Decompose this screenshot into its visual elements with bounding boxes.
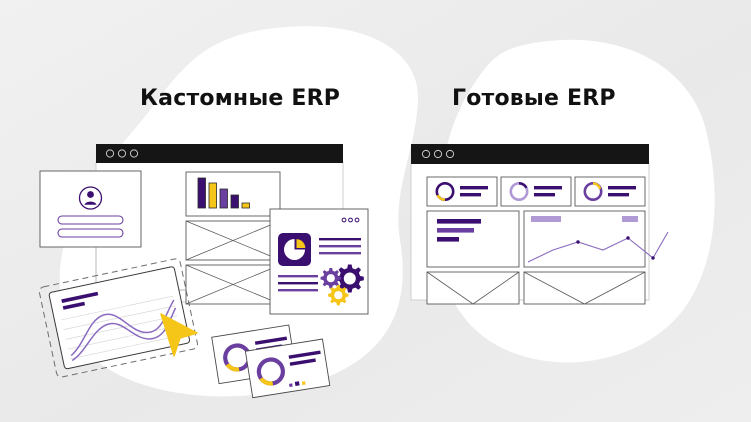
text-row-b2 (278, 282, 318, 284)
kpi-card-2-text-row-2 (534, 193, 555, 196)
bar-1 (198, 178, 206, 208)
text-row-b3 (278, 289, 318, 291)
text-row-t2 (319, 245, 361, 247)
mini-card-2-legend-dot-1 (289, 383, 293, 387)
right-placeholder-2[interactable] (524, 272, 645, 304)
text-panel[interactable] (427, 211, 519, 267)
bar-4 (231, 195, 239, 208)
illustration-artwork (0, 0, 751, 422)
line-chart-badge-left (531, 216, 561, 222)
kpi-card-3-text-row-2 (608, 193, 629, 196)
kpi-card-1-text-row-2 (460, 193, 481, 196)
bar-3 (220, 189, 228, 208)
user-avatar-icon (80, 187, 102, 209)
right-placeholder-1[interactable] (427, 272, 519, 304)
line-chart-badge-right (622, 216, 638, 222)
line-chart-marker-3 (651, 256, 654, 259)
kpi-card-2[interactable] (501, 177, 571, 206)
bar-2 (209, 183, 217, 208)
profile-card[interactable] (40, 171, 141, 247)
mini-card-2-legend-dot-3 (302, 381, 306, 385)
right-browser-window[interactable] (411, 144, 668, 304)
text-row-b1 (278, 275, 318, 277)
text-row-t1 (319, 238, 361, 240)
gear-small-yellow-icon (328, 285, 348, 305)
kpi-card-2-text-row-1 (534, 186, 562, 189)
detail-card[interactable] (270, 209, 368, 314)
text-panel-row-1 (437, 219, 481, 224)
illustration-stage: Кастомные ERP Готовые ERP (0, 0, 751, 422)
kpi-card-3-text-row-1 (608, 186, 636, 189)
line-chart-marker-2 (626, 236, 629, 239)
text-row-t3 (319, 252, 361, 254)
left-window-titlebar (96, 144, 343, 163)
image-placeholder-2[interactable] (186, 265, 280, 304)
text-panel-row-3 (437, 237, 459, 242)
right-placeholder-1-frame (427, 272, 519, 304)
profile-field-row-2[interactable] (58, 229, 123, 237)
kpi-card-3[interactable] (575, 177, 645, 206)
pie-chart-icon[interactable] (278, 233, 311, 266)
mini-card-2-legend-dot-2 (295, 381, 300, 386)
bar-5 (242, 203, 250, 208)
kpi-card-1-text-row-1 (460, 186, 488, 189)
text-panel-row-2 (437, 228, 474, 233)
image-placeholder-1[interactable] (186, 221, 280, 260)
profile-field-row-1[interactable] (58, 216, 123, 224)
bar-chart-widget[interactable] (186, 172, 280, 216)
line-chart-marker-1 (576, 240, 579, 243)
right-placeholder-2-frame (524, 272, 645, 304)
kpi-card-1[interactable] (427, 177, 497, 206)
